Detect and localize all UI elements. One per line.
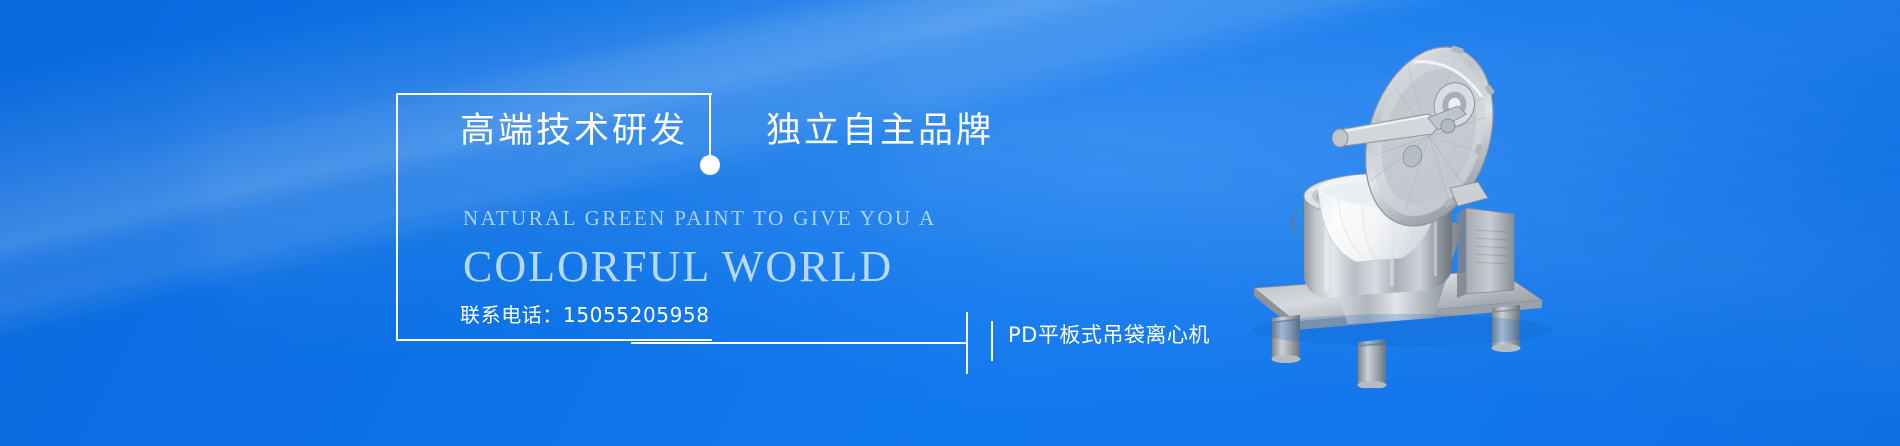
slogan-large: COLORFUL WORLD: [463, 245, 893, 289]
headline-left: 高端技术研发: [460, 111, 688, 151]
contact-phone: 联系电话：15055205958: [460, 305, 710, 325]
decorative-frame-top-edge: [396, 93, 710, 95]
promo-banner: 高端技术研发独立自主品牌 NATURAL GREEN PAINT TO GIVE…: [0, 0, 1900, 446]
frame-dot-marker-icon: [700, 155, 720, 175]
background-vignette: [0, 0, 1900, 446]
caption-horizontal-connector: [631, 342, 968, 344]
background-light-streak-mid: [0, 0, 1900, 348]
headline: 高端技术研发独立自主品牌: [460, 114, 994, 149]
product-caption: PD平板式吊袋离心机: [1008, 325, 1210, 346]
headline-right: 独立自主品牌: [766, 111, 994, 151]
caption-tick-mark: [991, 321, 993, 361]
product-image-centrifuge: GR 谷雨机械 Guyu Machine: [1252, 18, 1592, 388]
background-light-streak-bright: [0, 0, 1900, 418]
background-light-streak-lower: [0, 0, 1900, 446]
caption-vertical-connector: [966, 312, 968, 374]
subheadline: NATURAL GREEN PAINT TO GIVE YOU A: [463, 208, 937, 229]
